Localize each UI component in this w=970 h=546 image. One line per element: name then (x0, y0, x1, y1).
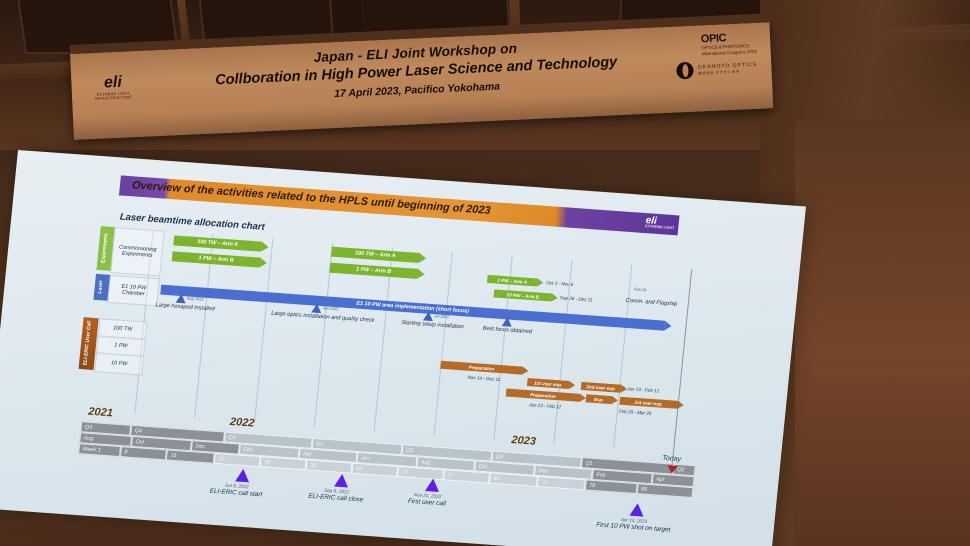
bar-10pw-arm-b[interactable]: 10 PW – Arm B (494, 289, 553, 301)
bar-2nd-user-exp-dates: Jan 23 - Feb 12 (627, 386, 660, 393)
banner-title-block: Japan - ELI Joint Workshop on Collborati… (205, 36, 627, 106)
bar-2nd-user-exp-1pw[interactable]: 2nd user exp. (581, 382, 622, 393)
year-label-2022: 2022 (229, 416, 255, 430)
week-cell: 43 (351, 463, 398, 477)
milestone-marker-icon (235, 468, 250, 482)
milestone-marker-icon (425, 478, 440, 492)
marker-large-hexapod-icon (176, 294, 187, 304)
bar-1pw-arm-b-2[interactable]: 1 PW – Arm B (329, 263, 418, 279)
eli-slide-logo: eli EXTREME LIGHT (645, 215, 675, 230)
presentation-slide: Overview of the activities related to th… (0, 150, 806, 546)
annotation-date-hexapod: Aug 2021 (187, 295, 204, 301)
bar-1st-user-exp-10pw[interactable]: 1st user exp. (619, 397, 678, 409)
bar-1pw-arm-a[interactable]: 1 PW – Arm A (487, 275, 538, 287)
milestone-marker-icon (629, 503, 644, 517)
milestone-first-user-call: Nov 21, 2022 First user call (383, 490, 472, 510)
marker-large-optics-icon (311, 303, 322, 313)
milestone-marker-icon (334, 474, 349, 488)
opic-logo: OPIC OPTICS & PHOTONICS International Co… (701, 31, 757, 57)
annotation-date-comm-flagship: Feb 20 (634, 286, 647, 292)
year-label-2021: 2021 (88, 406, 114, 420)
annotation-large-hexapod: Large hexapod installed (145, 302, 225, 314)
bar-preparation-1pw-dates: Nov 14 - Dec 11 (467, 375, 500, 382)
bar-preparation-10pw-dates: Jan 23 - Feb 12 (529, 402, 562, 409)
slide-title: Overview of the activities related to th… (131, 179, 491, 217)
week-cell: 15 (166, 449, 215, 463)
subcategory-commissioning-experiments: Commissioning Experiments (110, 227, 164, 276)
week-cell: 22 (214, 453, 261, 467)
right-wall-panel (795, 120, 970, 546)
milestone-first-10pw-shot: Apr 13, 2023 First 10 PW shot on target (591, 515, 676, 535)
bar-10pw-arm-b-dates: Sep 26 - Dec 11 (560, 295, 593, 302)
marker-starting-setup-icon (423, 311, 434, 321)
week-cell: 57 (443, 469, 490, 483)
opic-tagline-2: International Congress 2023 (701, 49, 756, 57)
annotation-date-starting-setup: Jul 2022 (434, 313, 449, 319)
bar-exp-10pw[interactable]: Exp. (586, 394, 613, 404)
annotation-comm-flagship: Comm. and Flagship (625, 298, 677, 308)
bar-1pw-arm-a-dates: Oct 3 - Nov 6 (546, 280, 573, 287)
bar-preparation-1pw[interactable]: Preparation (440, 361, 523, 375)
bar-100tw-arm-a-1[interactable]: 100 TW – Arm A (173, 235, 262, 251)
annotation-large-optics: Large optics installation and quality ch… (261, 310, 385, 326)
today-marker-icon (667, 465, 678, 474)
bar-1pw-arm-b-1[interactable]: 1 PW – Arm B (172, 251, 261, 267)
conference-room-photo: eli EXTREME LIGHT INFRASTRUCTURE Japan -… (0, 0, 970, 546)
bar-100tw-arm-a-2[interactable]: 100 TW – Arm A (331, 247, 420, 263)
annotation-date-large-optics: Jan 2022 (322, 305, 338, 311)
eli-logo-subtitle: EXTREME LIGHT INFRASTRUCTURE (86, 91, 141, 101)
week-cell: 8 (120, 446, 167, 460)
bar-1st-user-exp-1pw[interactable]: 1st user exp. (527, 378, 570, 389)
marker-best-focus-icon (502, 317, 513, 327)
week-cell: 78 (585, 479, 638, 494)
annotation-best-focus: Best focus obtained (472, 325, 542, 337)
projection-screen: Overview of the activities related to th… (0, 150, 806, 546)
okamoto-mark-icon (676, 62, 694, 80)
bar-preparation-10pw[interactable]: Preparation (506, 389, 581, 402)
eli-slide-logo-sub: EXTREME LIGHT (645, 224, 674, 230)
week-cell: Week 1 (78, 443, 121, 457)
milestone-eli-eric-call-close: Sep 9, 2022 ELI-ERIC call close (289, 485, 384, 505)
week-cell: 29 (260, 456, 307, 470)
milestone-eli-eric-call-start: Jun 8, 2022 ELI-ERIC call start (190, 480, 283, 500)
bar-1st-user-exp-10pw-dates: Feb 20 - Mar 26 (619, 409, 652, 416)
okamoto-optics-logo: OKAMOTO OPTICS 株式会社 オカモト光学 (676, 59, 758, 80)
week-cell: 64 (489, 473, 538, 487)
year-label-2023: 2023 (511, 434, 537, 448)
subcategory-10pw: 10 PW (94, 352, 144, 375)
milestone-text: First user call (408, 498, 447, 508)
eli-banner-logo: eli EXTREME LIGHT INFRASTRUCTURE (85, 73, 141, 101)
week-cell: 71 (537, 476, 586, 490)
week-cell: 36 (305, 459, 352, 473)
